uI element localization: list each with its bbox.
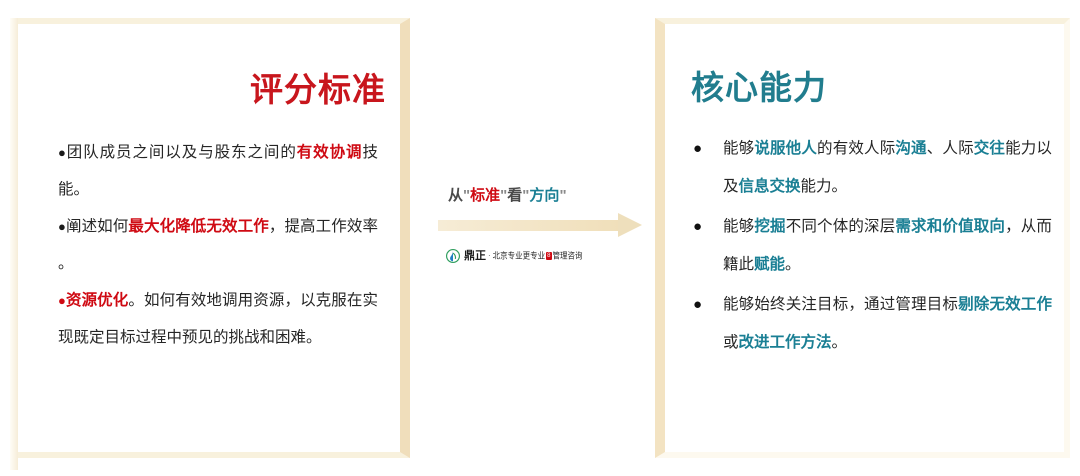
list-item: ● 能够挖掘不同个体的深层需求和价值取向，从而籍此赋能。 bbox=[689, 208, 1052, 284]
text-highlight: 挖掘 bbox=[754, 218, 785, 235]
text-plain: 不同个体的深层 bbox=[786, 218, 896, 235]
caption-lead: 从 bbox=[448, 187, 463, 204]
text-highlight: 改进工作方法 bbox=[739, 334, 832, 351]
bullet-marker-icon: ● bbox=[689, 130, 723, 168]
bullet-marker-icon: ● bbox=[58, 145, 67, 160]
right-arrow-icon bbox=[438, 212, 654, 238]
caption-middle: 看 bbox=[507, 187, 522, 204]
page-title-scoring-criteria: 评分标准 bbox=[250, 72, 386, 108]
caption-teal-word: 方向 bbox=[529, 187, 559, 204]
logo-tagline: 北京专业更专业 bbox=[493, 248, 546, 264]
text-highlight: 沟通 bbox=[895, 140, 926, 157]
list-item-text: 能够说服他人的有效人际沟通、人际交往能力以及信息交换能力。 bbox=[723, 130, 1052, 206]
page-title-core-competency: 核心能力 bbox=[691, 70, 827, 106]
text-plain: 或 bbox=[723, 334, 739, 351]
arrow-caption: 从"标准"看"方向" bbox=[438, 186, 654, 206]
list-item: ●团队成员之间以及与股东之间的有效协调技能。 bbox=[58, 134, 378, 208]
logo-droplet-icon bbox=[446, 249, 460, 263]
logo-separator: · bbox=[488, 249, 491, 263]
list-item: ● 能够说服他人的有效人际沟通、人际交往能力以及信息交换能力。 bbox=[689, 130, 1052, 206]
scoring-criteria-list: ●团队成员之间以及与股东之间的有效协调技能。 ●阐述如何最大化降低无效工作，提高… bbox=[58, 134, 378, 356]
text-plain: 能力。 bbox=[801, 178, 848, 195]
text-plain: 能够 bbox=[723, 140, 754, 157]
text-highlight: 说服他人 bbox=[754, 140, 817, 157]
logo-suffix: 管理咨询 bbox=[553, 248, 583, 264]
list-item: ●资源优化。如何有效地调用资源，以克服在实现既定目标过程中预见的挑战和困难。 bbox=[58, 282, 378, 356]
brand-logo: 鼎正 · 北京专业更专业 8 管理咨询 bbox=[438, 248, 654, 264]
arrow-head bbox=[618, 213, 642, 237]
transition-arrow-block: 从"标准"看"方向" 鼎正 · 北京专业更专业 8 管理咨询 bbox=[438, 186, 654, 264]
text-highlight: 交往 bbox=[974, 140, 1005, 157]
list-item: ●阐述如何最大化降低无效工作，提高工作效率 。 bbox=[58, 208, 378, 282]
bullet-text-highlight: 有效协调 bbox=[297, 144, 363, 161]
bullet-marker-icon: ● bbox=[689, 286, 723, 324]
list-item-text: 能够挖掘不同个体的深层需求和价值取向，从而籍此赋能。 bbox=[723, 208, 1052, 284]
text-highlight: 剔除无效工作 bbox=[958, 296, 1052, 313]
list-item-text: 能够始终关注目标，通过管理目标剔除无效工作或改进工作方法。 bbox=[723, 286, 1052, 362]
logo-badge: 8 bbox=[546, 252, 551, 260]
text-plain: 。 bbox=[785, 256, 801, 273]
bullet-marker-icon: ● bbox=[58, 293, 66, 308]
scoring-criteria-inner: 评分标准 ●团队成员之间以及与股东之间的有效协调技能。 ●阐述如何最大化降低无效… bbox=[16, 24, 400, 452]
core-competency-inner: 核心能力 ● 能够说服他人的有效人际沟通、人际交往能力以及信息交换能力。 ● 能… bbox=[665, 24, 1064, 452]
core-competency-panel: 核心能力 ● 能够说服他人的有效人际沟通、人际交往能力以及信息交换能力。 ● 能… bbox=[655, 18, 1070, 458]
bullet-marker-icon: ● bbox=[58, 219, 66, 234]
list-item: ● 能够始终关注目标，通过管理目标剔除无效工作或改进工作方法。 bbox=[689, 286, 1052, 362]
arrow-shaft bbox=[438, 220, 620, 231]
caption-red-word: 标准 bbox=[470, 187, 500, 204]
bullet-text-plain: 团队成员之间以及与股东之间的 bbox=[67, 144, 297, 161]
bullet-text-highlight: 资源优化 bbox=[66, 292, 128, 309]
text-plain: 能够始终关注目标，通过管理目标 bbox=[723, 296, 958, 313]
text-highlight: 信息交换 bbox=[739, 178, 801, 195]
text-highlight: 需求和价值取向 bbox=[895, 218, 1005, 235]
scoring-criteria-panel: 评分标准 ●团队成员之间以及与股东之间的有效协调技能。 ●阐述如何最大化降低无效… bbox=[10, 18, 410, 458]
bullet-text-highlight: 最大化降低无效工作 bbox=[128, 218, 268, 235]
text-plain: 、人际 bbox=[927, 140, 974, 157]
bullet-marker-icon: ● bbox=[689, 208, 723, 246]
text-plain: 的有效人际 bbox=[817, 140, 895, 157]
core-competency-list: ● 能够说服他人的有效人际沟通、人际交往能力以及信息交换能力。 ● 能够挖掘不同… bbox=[689, 130, 1052, 364]
logo-brand-name: 鼎正 bbox=[464, 249, 486, 263]
bullet-text-plain: 阐述如何 bbox=[66, 218, 128, 235]
text-plain: 。 bbox=[832, 334, 848, 351]
caption-quote-close-2: " bbox=[559, 187, 566, 204]
text-plain: 能够 bbox=[723, 218, 754, 235]
text-highlight: 赋能 bbox=[754, 256, 785, 273]
